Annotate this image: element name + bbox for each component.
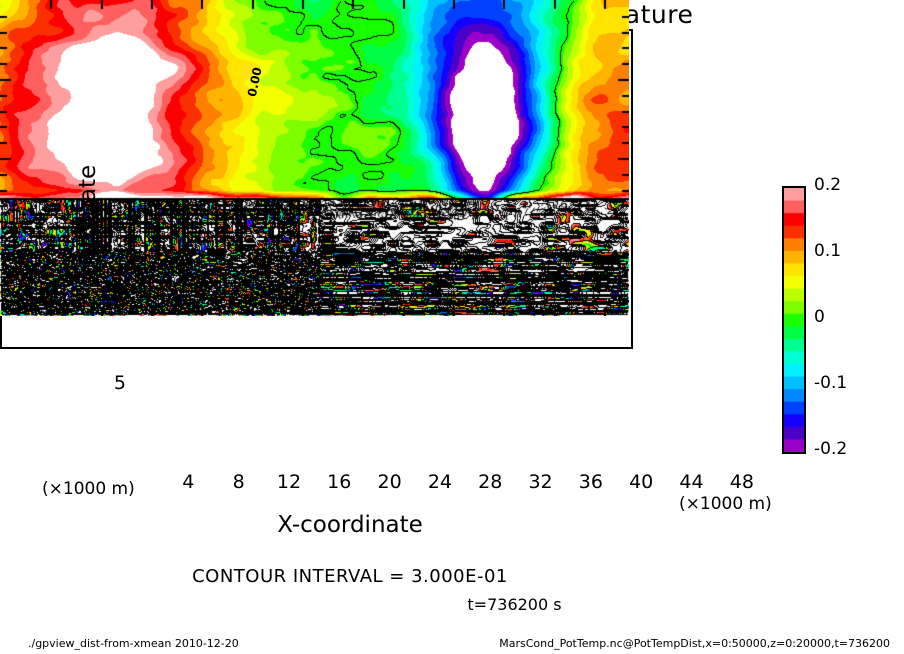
footer-source: MarsCond_PotTemp.nc@PotTempDist,x=0:5000…	[499, 637, 890, 650]
y-tick-label: 5	[84, 372, 126, 394]
x-axis-label: X-coordinate	[0, 512, 700, 538]
colorbar-tick-label: -0.2	[814, 439, 847, 459]
colorbar-gradient	[784, 188, 804, 452]
x-tick-label: 20	[370, 471, 410, 493]
colorbar-tick-label: 0.2	[814, 175, 841, 195]
x-tick-label: 8	[219, 471, 259, 493]
x-unit-left: (×1000 m)	[42, 479, 135, 499]
footer-command: ./gpview_dist-from-xmean 2010-12-20	[28, 637, 239, 650]
contour-interval-note: CONTOUR INTERVAL = 3.000E-01	[0, 566, 700, 587]
colorbar	[782, 186, 806, 454]
x-tick-label: 48	[722, 471, 762, 493]
x-tick-label: 36	[571, 471, 611, 493]
x-tick-label: 12	[269, 471, 309, 493]
x-tick-label: 32	[521, 471, 561, 493]
y-axis-label: Z-coordinate	[75, 108, 101, 368]
time-stamp-note: t=736200 s	[0, 595, 904, 614]
colorbar-tick-label: -0.1	[814, 373, 847, 393]
x-unit-right: (×1000 m)	[679, 494, 772, 514]
x-tick-label: 44	[672, 471, 712, 493]
x-tick-label: 4	[168, 471, 208, 493]
colorbar-tick-label: 0.1	[814, 241, 841, 261]
colorbar-tick-label: 0	[814, 307, 825, 327]
x-tick-label: 40	[621, 471, 661, 493]
x-tick-label: 28	[470, 471, 510, 493]
x-tick-label: 24	[420, 471, 460, 493]
x-tick-label: 16	[319, 471, 359, 493]
